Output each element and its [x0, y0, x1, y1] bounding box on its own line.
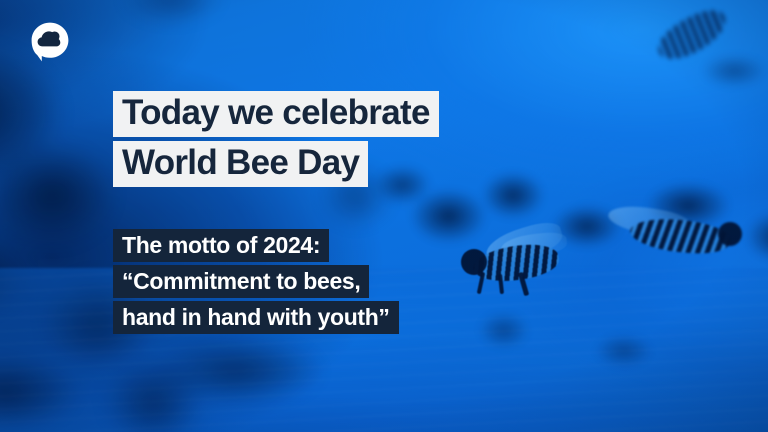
headline: Today we celebrate World Bee Day: [113, 91, 439, 187]
cloud-sun-speech-bubble-icon: [29, 21, 71, 63]
bee-head: [718, 222, 742, 246]
bee-body: [629, 215, 732, 257]
foreground-bee: [455, 232, 575, 296]
subtitle-line-2: “Commitment to bees,: [113, 265, 369, 298]
subtitle-line-3: hand in hand with youth”: [113, 301, 399, 334]
foreground-bee: [600, 208, 740, 266]
subtitle: The motto of 2024: “Commitment to bees, …: [113, 229, 399, 334]
headline-line-1: Today we celebrate: [113, 91, 439, 137]
bee-head: [461, 249, 487, 275]
subtitle-line-1: The motto of 2024:: [113, 229, 329, 262]
social-media-card: Today we celebrate World Bee Day The mot…: [0, 0, 768, 432]
headline-line-2: World Bee Day: [113, 141, 368, 187]
background-photo: [0, 0, 768, 432]
brand-logo[interactable]: [29, 21, 71, 63]
